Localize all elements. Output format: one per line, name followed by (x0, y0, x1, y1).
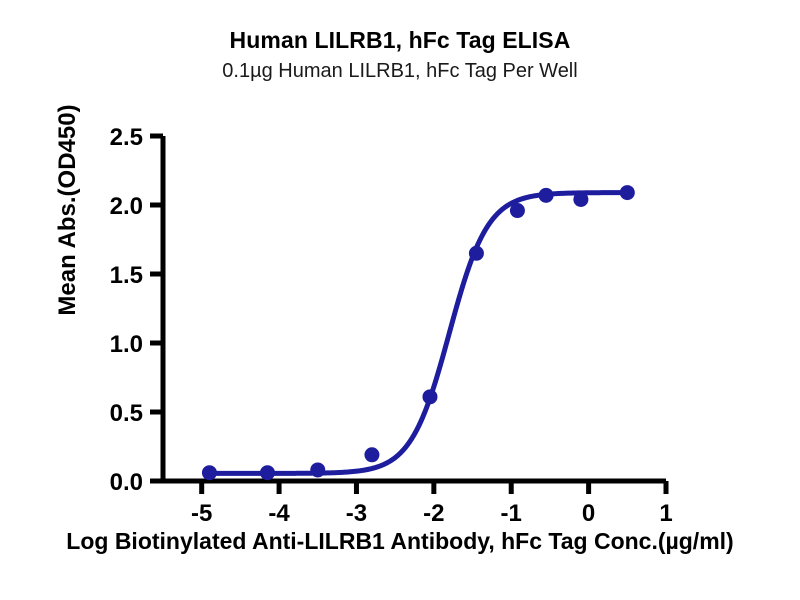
x-axis-tick-labels: -5-4-3-2-101 (191, 500, 673, 527)
x-tick-label: -5 (191, 500, 212, 527)
x-tick-label: 0 (582, 500, 595, 527)
y-tick-label: 2.5 (110, 124, 143, 151)
data-point-markers (202, 185, 635, 480)
y-tick-label: 0.0 (110, 469, 143, 496)
sigmoid-fit-curve (209, 193, 627, 474)
x-tick-label: 1 (659, 500, 672, 527)
y-axis-tick-labels: 0.00.51.01.52.02.5 (110, 124, 143, 496)
data-point (539, 188, 554, 203)
chart-figure: Human LILRB1, hFc Tag ELISA 0.1µg Human … (0, 0, 800, 600)
y-tick-label: 2.0 (110, 193, 143, 220)
x-tick-label: -4 (268, 500, 290, 527)
data-point (510, 203, 525, 218)
plot-area: 0.00.51.01.52.02.5 -5-4-3-2-101 (0, 0, 800, 600)
y-tick-label: 1.5 (110, 262, 143, 289)
x-tick-label: -2 (423, 500, 444, 527)
data-point (310, 462, 325, 477)
y-tick-label: 1.0 (110, 331, 143, 358)
data-point (260, 465, 275, 480)
x-tick-label: -1 (501, 500, 522, 527)
data-point (364, 447, 379, 462)
y-tick-label: 0.5 (110, 400, 143, 427)
data-point (422, 389, 437, 404)
x-tick-label: -3 (346, 500, 367, 527)
y-axis-label: Mean Abs.(OD450) (54, 80, 82, 340)
data-point (573, 192, 588, 207)
data-point (620, 185, 635, 200)
data-point (202, 465, 217, 480)
data-point (469, 246, 484, 261)
x-axis-label: Log Biotinylated Anti-LILRB1 Antibody, h… (0, 528, 800, 555)
